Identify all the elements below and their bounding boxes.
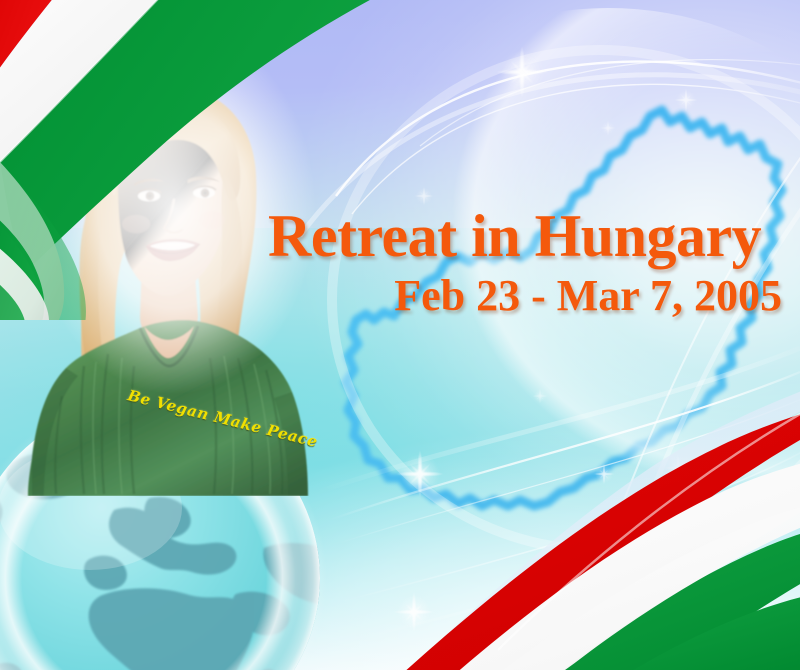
hungary-flag-ribbon-bottom-right (344, 344, 800, 670)
page-title: Retreat in Hungary (268, 206, 788, 267)
poster-canvas: Be Vegan Make Peace (0, 0, 800, 670)
event-date: Feb 23 - Mar 7, 2005 (268, 273, 788, 319)
headline-block: Retreat in Hungary Feb 23 - Mar 7, 2005 (268, 206, 788, 319)
